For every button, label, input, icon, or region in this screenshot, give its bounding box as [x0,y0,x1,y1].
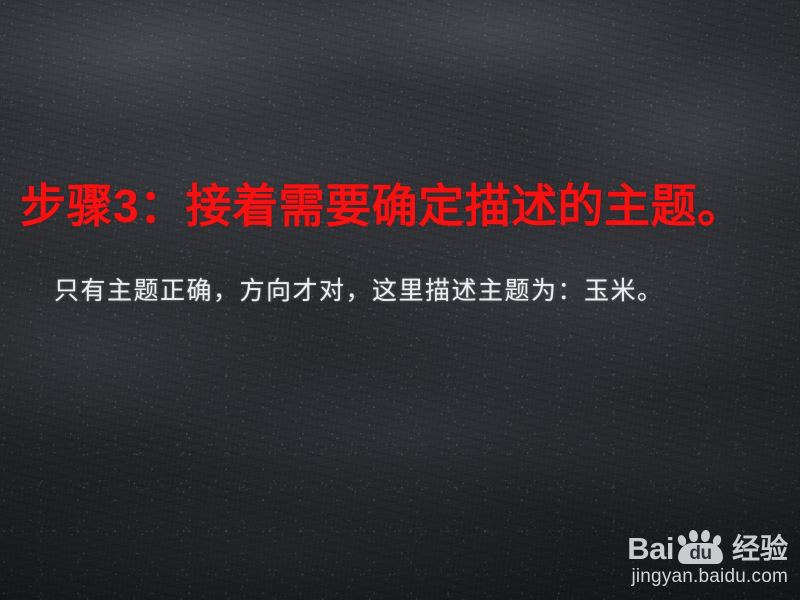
baidu-jingyan-watermark: Bai du 经验 jingyan.baidu.com [627,532,788,588]
watermark-url: jingyan.baidu.com [627,566,788,588]
slide-subtitle: 只有主题正确，方向才对，这里描述主题为：玉米。 [54,276,774,306]
paw-toe-2 [688,529,698,542]
baidu-wordmark-bai: Bai [627,534,674,563]
chalkboard-slide: 步骤3：接着需要确定描述的主题。 只有主题正确，方向才对，这里描述主题为：玉米。… [0,0,800,600]
paw-print-icon: du [676,530,726,564]
paw-toe-3 [700,529,710,542]
slide-title: 步骤3：接着需要确定描述的主题。 [20,182,792,230]
baidu-wordmark-du: du [676,543,725,564]
baidu-jingyan-label: 经验 [732,535,788,563]
baidu-logo: Bai du 经验 [627,532,788,563]
